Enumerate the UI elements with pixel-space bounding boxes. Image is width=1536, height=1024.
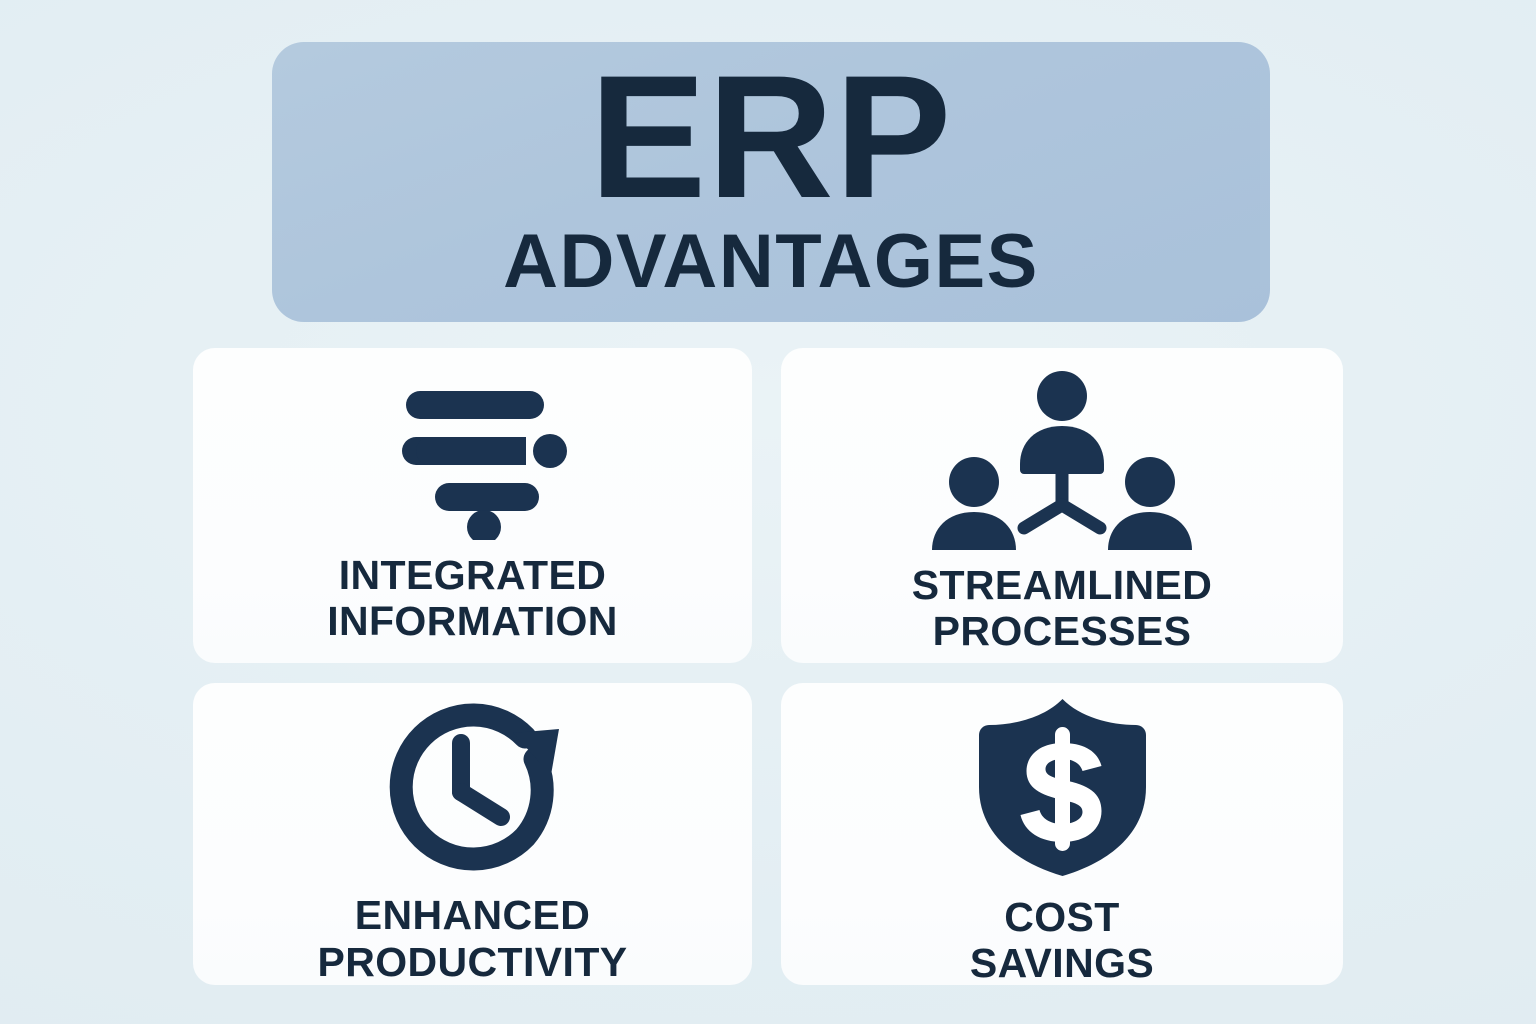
advantage-card-streamlined-processes[interactable]: STREAMLINED PROCESSES — [781, 348, 1343, 663]
team-network-icon — [781, 362, 1343, 552]
advantage-label-cost-savings: COST SAVINGS — [970, 894, 1154, 985]
advantage-label-enhanced-productivity: ENHANCED PRODUCTIVITY — [317, 892, 627, 985]
advantage-label-integrated-information: INTEGRATED INFORMATION — [327, 552, 618, 645]
advantage-card-enhanced-productivity[interactable]: ENHANCED PRODUCTIVITY — [193, 683, 752, 985]
advantage-label-streamlined-processes: STREAMLINED PROCESSES — [912, 562, 1213, 655]
advantage-card-integrated-information[interactable]: INTEGRATED INFORMATION — [193, 348, 752, 663]
advantages-grid: INTEGRATED INFORMATION — [193, 348, 1343, 985]
header-banner: ERP ADVANTAGES — [272, 42, 1270, 322]
shield-dollar-icon — [781, 695, 1343, 880]
filter-bars-icon — [193, 372, 752, 542]
advantage-card-cost-savings[interactable]: COST SAVINGS — [781, 683, 1343, 985]
page-subtitle: ADVANTAGES — [503, 224, 1039, 300]
clock-arrow-icon — [193, 697, 752, 882]
page-title: ERP — [590, 57, 953, 218]
